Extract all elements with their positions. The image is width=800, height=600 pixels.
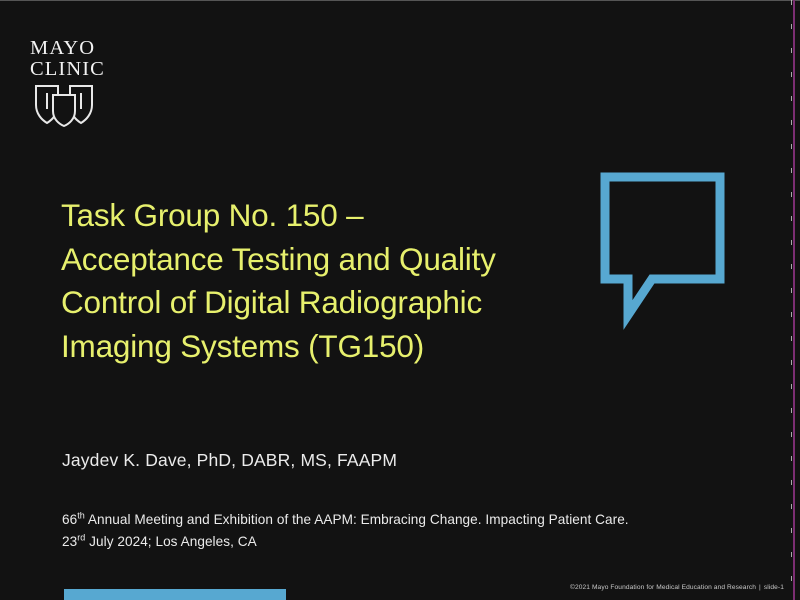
right-edge-dashed-artifact	[791, 0, 792, 600]
meeting-edition-number: 66	[62, 512, 77, 527]
meeting-info-line-1: 66th Annual Meeting and Exhibition of th…	[62, 509, 629, 531]
footer-separator: |	[756, 584, 764, 591]
meeting-info-line-2: 23rd July 2024; Los Angeles, CA	[62, 531, 629, 553]
logo-word-clinic: CLINIC	[30, 59, 140, 80]
meeting-info: 66th Annual Meeting and Exhibition of th…	[62, 509, 629, 552]
meeting-edition-ordinal: th	[77, 510, 85, 520]
author-name: Jaydev K. Dave, PhD, DABR, MS, FAAPM	[62, 450, 397, 471]
logo-word-mayo: MAYO	[30, 38, 140, 59]
slide-title: Task Group No. 150 – Acceptance Testing …	[61, 194, 581, 368]
meeting-date-day: 23	[62, 534, 77, 549]
presentation-slide: MAYO CLINIC Task Group No. 150 – Accepta…	[0, 0, 800, 600]
mayo-clinic-logo: MAYO CLINIC	[30, 38, 140, 132]
copyright-text: ©2021 Mayo Foundation for Medical Educat…	[570, 584, 756, 591]
meeting-date-location: July 2024; Los Angeles, CA	[85, 534, 256, 549]
speech-bubble-icon	[596, 168, 736, 348]
accent-progress-bar	[64, 589, 286, 600]
slide-number: slide-1	[764, 584, 784, 591]
right-edge-artifact	[793, 0, 795, 600]
footer-copyright: ©2021 Mayo Foundation for Medical Educat…	[570, 584, 784, 591]
meeting-title-text: Annual Meeting and Exhibition of the AAP…	[85, 512, 629, 527]
triple-shield-icon	[33, 83, 140, 132]
top-edge-hairline	[0, 0, 800, 1]
